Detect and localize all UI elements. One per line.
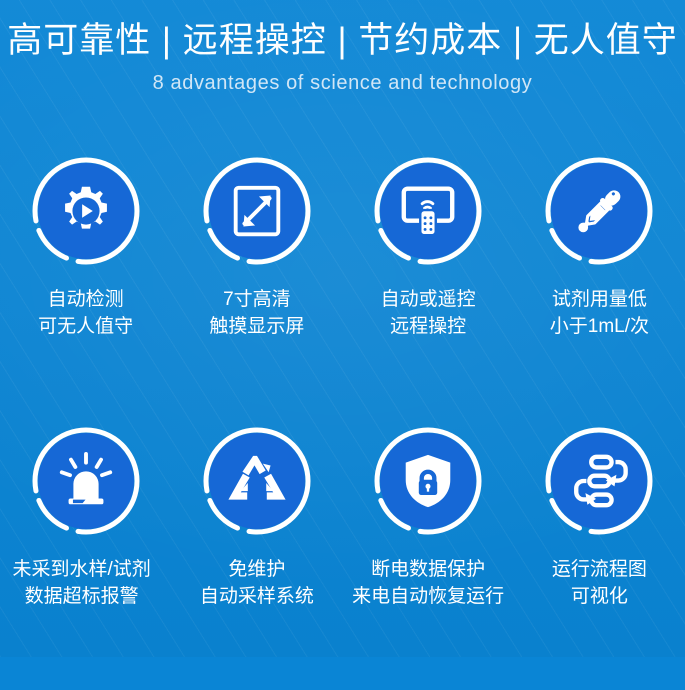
feature-label-3: 自动或遥控 远程操控	[381, 286, 476, 340]
page-subtitle: 8 advantages of science and technology	[0, 68, 685, 98]
feature-icon-circle-5	[31, 426, 141, 536]
icon-disc	[38, 433, 134, 529]
feature-item-1[interactable]: 自动检测 可无人值守	[0, 150, 171, 420]
feature-label-6: 免维护 自动采样系统	[200, 556, 314, 610]
feature-item-5[interactable]: 未采到水样/试剂 数据超标报警	[0, 420, 171, 690]
expand-arrows-screen-icon	[226, 180, 288, 242]
dropper-pipette-icon	[568, 180, 630, 242]
feature-item-4[interactable]: 试剂用量低 小于1mL/次	[514, 150, 685, 420]
page-title: 高可靠性 | 远程操控 | 节约成本 | 无人值守	[0, 18, 685, 64]
feature-label-1: 自动检测 可无人值守	[38, 286, 133, 340]
feature-label-4: 试剂用量低 小于1mL/次	[550, 286, 649, 340]
feature-grid: 自动检测 可无人值守	[0, 150, 685, 690]
feature-item-6[interactable]: 免维护 自动采样系统	[171, 420, 342, 690]
feature-label-5: 未采到水样/试剂 数据超标报警	[12, 556, 150, 610]
icon-disc	[380, 163, 476, 259]
icon-disc	[551, 163, 647, 259]
feature-row-2: 未采到水样/试剂 数据超标报警	[0, 420, 685, 690]
gear-play-icon	[55, 180, 117, 242]
feature-item-2[interactable]: 7寸高清 触摸显示屏	[171, 150, 342, 420]
feature-item-8[interactable]: 运行流程图 可视化	[514, 420, 685, 690]
feature-label-2: 7寸高清 触摸显示屏	[209, 286, 304, 340]
feature-label-7: 断电数据保护 来电自动恢复运行	[352, 556, 504, 610]
feature-icon-circle-7	[373, 426, 483, 536]
icon-disc	[209, 163, 305, 259]
feature-icon-circle-6	[202, 426, 312, 536]
icon-disc	[38, 163, 134, 259]
icon-disc	[380, 433, 476, 529]
feature-icon-circle-3	[373, 156, 483, 266]
shield-lock-icon	[397, 450, 459, 512]
feature-row-1: 自动检测 可无人值守	[0, 150, 685, 420]
feature-icon-circle-4	[544, 156, 654, 266]
feature-icon-circle-8	[544, 426, 654, 536]
feature-item-7[interactable]: 断电数据保护 来电自动恢复运行	[343, 420, 514, 690]
feature-label-8: 运行流程图 可视化	[552, 556, 647, 610]
feature-icon-circle-2	[202, 156, 312, 266]
icon-disc	[551, 433, 647, 529]
promo-poster: 高可靠性 | 远程操控 | 节约成本 | 无人值守 8 advantages o…	[0, 0, 685, 657]
feature-item-3[interactable]: 自动或遥控 远程操控	[343, 150, 514, 420]
recycle-icon	[226, 450, 288, 512]
feature-icon-circle-1	[31, 156, 141, 266]
alarm-siren-icon	[55, 450, 117, 512]
flowchart-loop-icon	[568, 450, 630, 512]
icon-disc	[209, 433, 305, 529]
monitor-remote-wifi-icon	[397, 180, 459, 242]
header: 高可靠性 | 远程操控 | 节约成本 | 无人值守 8 advantages o…	[0, 0, 685, 98]
